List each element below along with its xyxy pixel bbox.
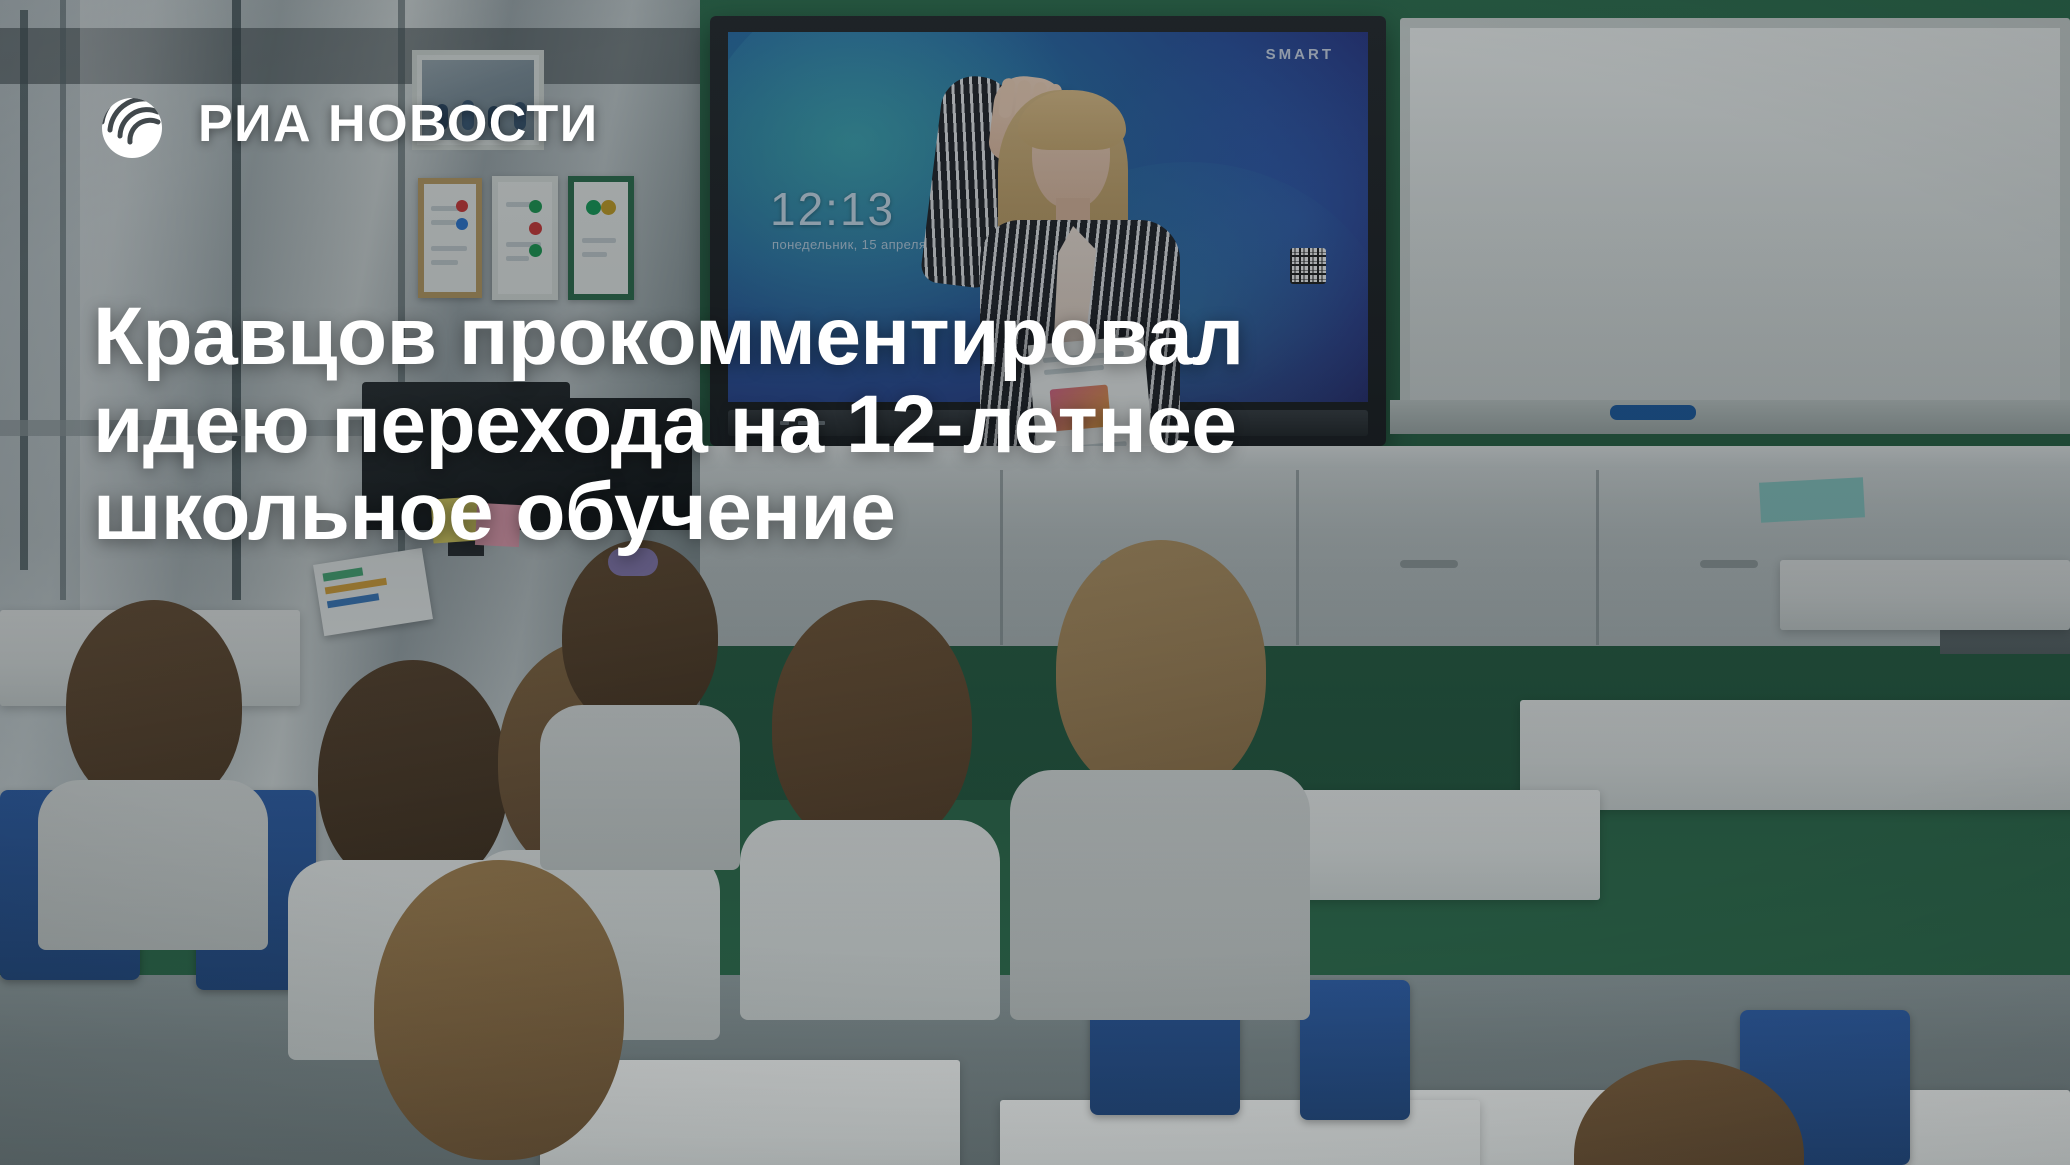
article-hero-image: 12:13 понедельник, 15 апреля 2024 г.: [0, 0, 2070, 1165]
page-title: Кравцов прокомментировал идею перехода н…: [93, 293, 1423, 556]
headline-line-3: школьное обучение: [93, 468, 1423, 556]
headline-line-1: Кравцов прокомментировал: [93, 293, 1423, 381]
headline-line-2: идею перехода на 12-летнее: [93, 381, 1423, 469]
ria-novosti-wordmark: РИА НОВОСТИ: [198, 98, 599, 150]
hero-overlay-content: РИА НОВОСТИ Кравцов прокомментировал иде…: [0, 0, 2070, 1165]
ria-novosti-logo[interactable]: РИА НОВОСТИ: [96, 86, 599, 162]
ria-sphere-icon: [96, 86, 172, 162]
